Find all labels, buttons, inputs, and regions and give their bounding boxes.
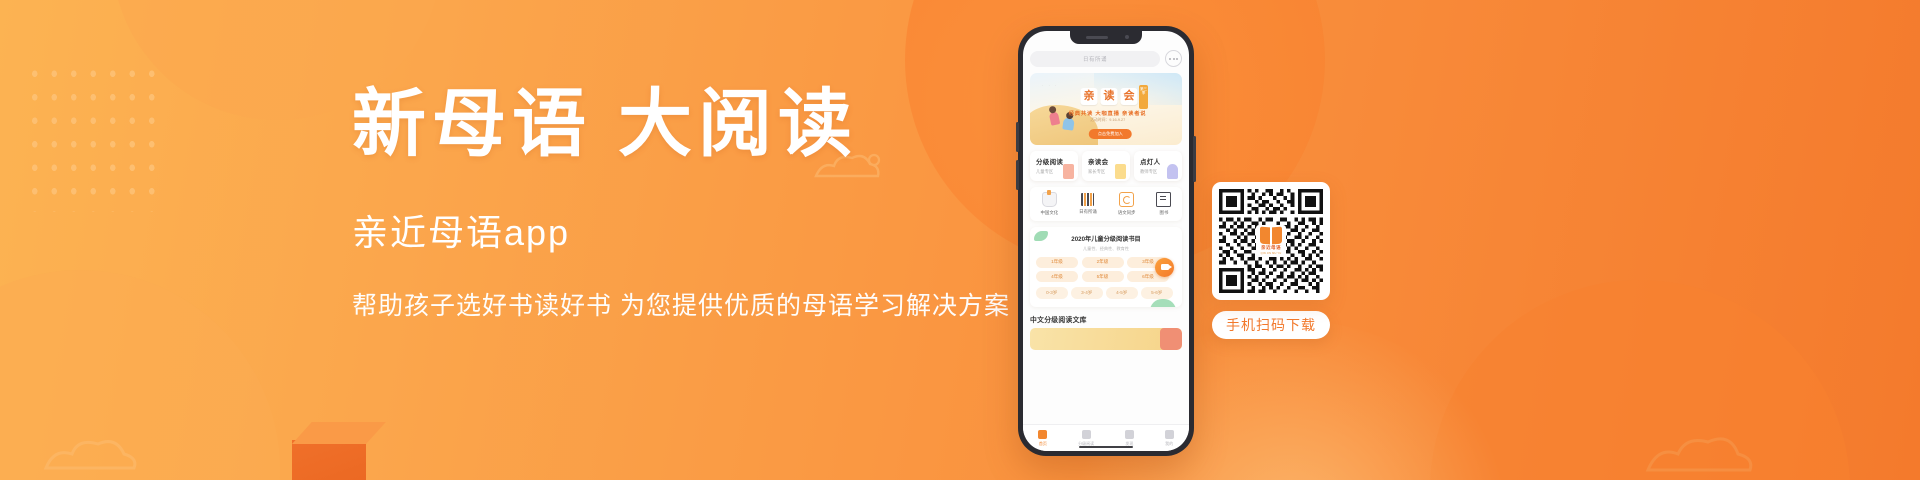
age-tag[interactable]: 4-5岁 [1106, 287, 1138, 298]
decorative-dot-grid [25, 62, 165, 212]
section-title-library: 中文分级阅读文库 [1030, 314, 1182, 324]
phone-notch [1070, 31, 1142, 44]
bottle-icon [1042, 192, 1057, 207]
grade-tag[interactable]: 1年级 [1036, 257, 1078, 268]
person-icon [1165, 430, 1174, 439]
booklist-section: 2020年儿童分级阅读书目 儿童性、经典性、教育性 1年级 2年级 3年级 4年… [1030, 227, 1182, 307]
search-input[interactable]: 日有所诵 [1030, 51, 1160, 67]
hero-birds-icon: · · · [1042, 83, 1058, 88]
quick-link-label: 中国文化 [1041, 210, 1059, 216]
quick-link-label: 图书 [1160, 210, 1169, 216]
decorative-circle-bottom-left [0, 270, 280, 480]
phone-volume-down-button [1016, 160, 1019, 190]
decorative-cube [292, 440, 366, 480]
feature-cards: 分级阅读 儿童专区 亲读会 家长专区 点灯人 教师专区 [1030, 151, 1182, 181]
hero-title: 亲 读 会 [1081, 88, 1138, 105]
phone-volume-up-button [1016, 122, 1019, 152]
phone-screen: 日有所诵 · · · 亲 读 会 第三季 经典共读 大咖直播 亲读者说 [1023, 31, 1189, 451]
leaf-decoration-icon-2 [1150, 299, 1176, 307]
card-illustration-icon [1115, 164, 1126, 179]
qr-download-area: 亲近母语 QIN JIN MU YU 手机扫码下载 [1212, 182, 1330, 339]
qr-center-logo: 亲近母语 QIN JIN MU YU [1256, 225, 1286, 257]
banner-copy: 新母语大阅读 亲近母语app 帮助孩子选好书读好书 为您提供优质的母语学习解决方… [352, 88, 1012, 322]
grade-tag[interactable]: 5年级 [1082, 271, 1124, 282]
reading-icon [1082, 430, 1091, 439]
download-button[interactable]: 手机扫码下载 [1212, 311, 1330, 339]
feature-card-lamplighter[interactable]: 点灯人 教师专区 [1134, 151, 1182, 181]
hero-title-char-3: 会 [1121, 88, 1138, 105]
quick-link-row: 中国文化 日有所诵 语文同步 图书 [1030, 187, 1182, 221]
feature-card-reading-club[interactable]: 亲读会 家长专区 [1082, 151, 1130, 181]
hero-child-illustration-2 [1062, 117, 1075, 130]
app-name: 亲近母语app [352, 204, 1012, 256]
age-tag[interactable]: 5-6岁 [1141, 287, 1173, 298]
card-illustration-icon [1063, 164, 1074, 179]
library-banner[interactable] [1030, 328, 1182, 350]
qr-code-card: 亲近母语 QIN JIN MU YU [1212, 182, 1330, 300]
hero-banner[interactable]: · · · 亲 读 会 第三季 经典共读 大咖直播 亲读者说 活动时间：9.16… [1030, 73, 1182, 145]
decorative-circle-bottom-right [1430, 280, 1850, 480]
booklist-title: 2020年儿童分级阅读书目 [1036, 234, 1176, 243]
hero-join-button[interactable]: 点击免费加入 [1089, 129, 1132, 139]
quick-link-label: 日有所诵 [1079, 209, 1097, 215]
book-icon [1156, 192, 1171, 207]
cloud-decoration-right-icon [1640, 420, 1780, 474]
tab-label: 我的 [1165, 441, 1173, 447]
age-tag[interactable]: 3-4岁 [1071, 287, 1103, 298]
quick-link-books[interactable]: 图书 [1156, 192, 1171, 216]
booklist-subtitle: 儿童性、经典性、教育性 [1036, 246, 1176, 252]
qr-logo-pinyin: QIN JIN MU YU [1261, 252, 1282, 255]
hero-subtitle: 经典共读 大咖直播 亲读者说 [1069, 109, 1147, 117]
tab-discover[interactable]: 发现 [1125, 430, 1134, 447]
more-options-icon[interactable] [1165, 50, 1182, 67]
book-logo-icon [1260, 227, 1282, 244]
phone-mockup: 日有所诵 · · · 亲 读 会 第三季 经典共读 大咖直播 亲读者说 [1018, 26, 1194, 456]
hero-title-char-2: 读 [1101, 88, 1118, 105]
app-search-row: 日有所诵 [1030, 50, 1182, 67]
quick-link-textbook-sync[interactable]: 语文同步 [1118, 192, 1136, 216]
headline-part-1: 新母语 [352, 84, 592, 166]
tab-profile[interactable]: 我的 [1165, 430, 1174, 447]
card-illustration-icon [1167, 164, 1178, 179]
home-indicator [1079, 446, 1133, 449]
quick-link-label: 语文同步 [1118, 210, 1136, 216]
hero-date: 活动时间：9.16-9.27 [1090, 118, 1125, 123]
phone-power-button [1193, 136, 1196, 182]
tab-graded-reading[interactable]: 分级阅读 [1078, 430, 1094, 447]
video-play-button[interactable] [1155, 258, 1174, 277]
tab-label: 首页 [1039, 441, 1047, 447]
feature-card-graded-reading[interactable]: 分级阅读 儿童专区 [1030, 151, 1078, 181]
quick-link-daily-recitation[interactable]: 日有所诵 [1079, 193, 1097, 215]
grade-tag[interactable]: 4年级 [1036, 271, 1078, 282]
compass-icon [1125, 430, 1134, 439]
quick-link-chinese-culture[interactable]: 中国文化 [1041, 192, 1059, 216]
hero-title-char-1: 亲 [1081, 88, 1098, 105]
sync-icon [1119, 192, 1134, 207]
qr-logo-name: 亲近母语 [1261, 245, 1281, 251]
age-tag[interactable]: 0-3岁 [1036, 287, 1068, 298]
tab-home[interactable]: 首页 [1038, 430, 1047, 447]
banner-description: 帮助孩子选好书读好书 为您提供优质的母语学习解决方案 [352, 286, 1012, 322]
age-tag-grid: 0-3岁 3-4岁 4-5岁 5-6岁 [1036, 287, 1176, 298]
promo-banner: 新母语大阅读 亲近母语app 帮助孩子选好书读好书 为您提供优质的母语学习解决方… [0, 0, 1920, 480]
app-content: 日有所诵 · · · 亲 读 会 第三季 经典共读 大咖直播 亲读者说 [1023, 31, 1189, 350]
grade-tag-grid: 1年级 2年级 3年级 4年级 5年级 6年级 [1036, 257, 1176, 283]
cloud-decoration-left-icon [40, 424, 160, 472]
books-icon [1081, 193, 1094, 206]
page-title: 新母语大阅读 [352, 88, 1012, 162]
home-icon [1038, 430, 1047, 439]
hero-season-badge: 第三季 [1139, 85, 1148, 109]
headline-part-2: 大阅读 [618, 84, 858, 166]
grade-tag[interactable]: 2年级 [1082, 257, 1124, 268]
